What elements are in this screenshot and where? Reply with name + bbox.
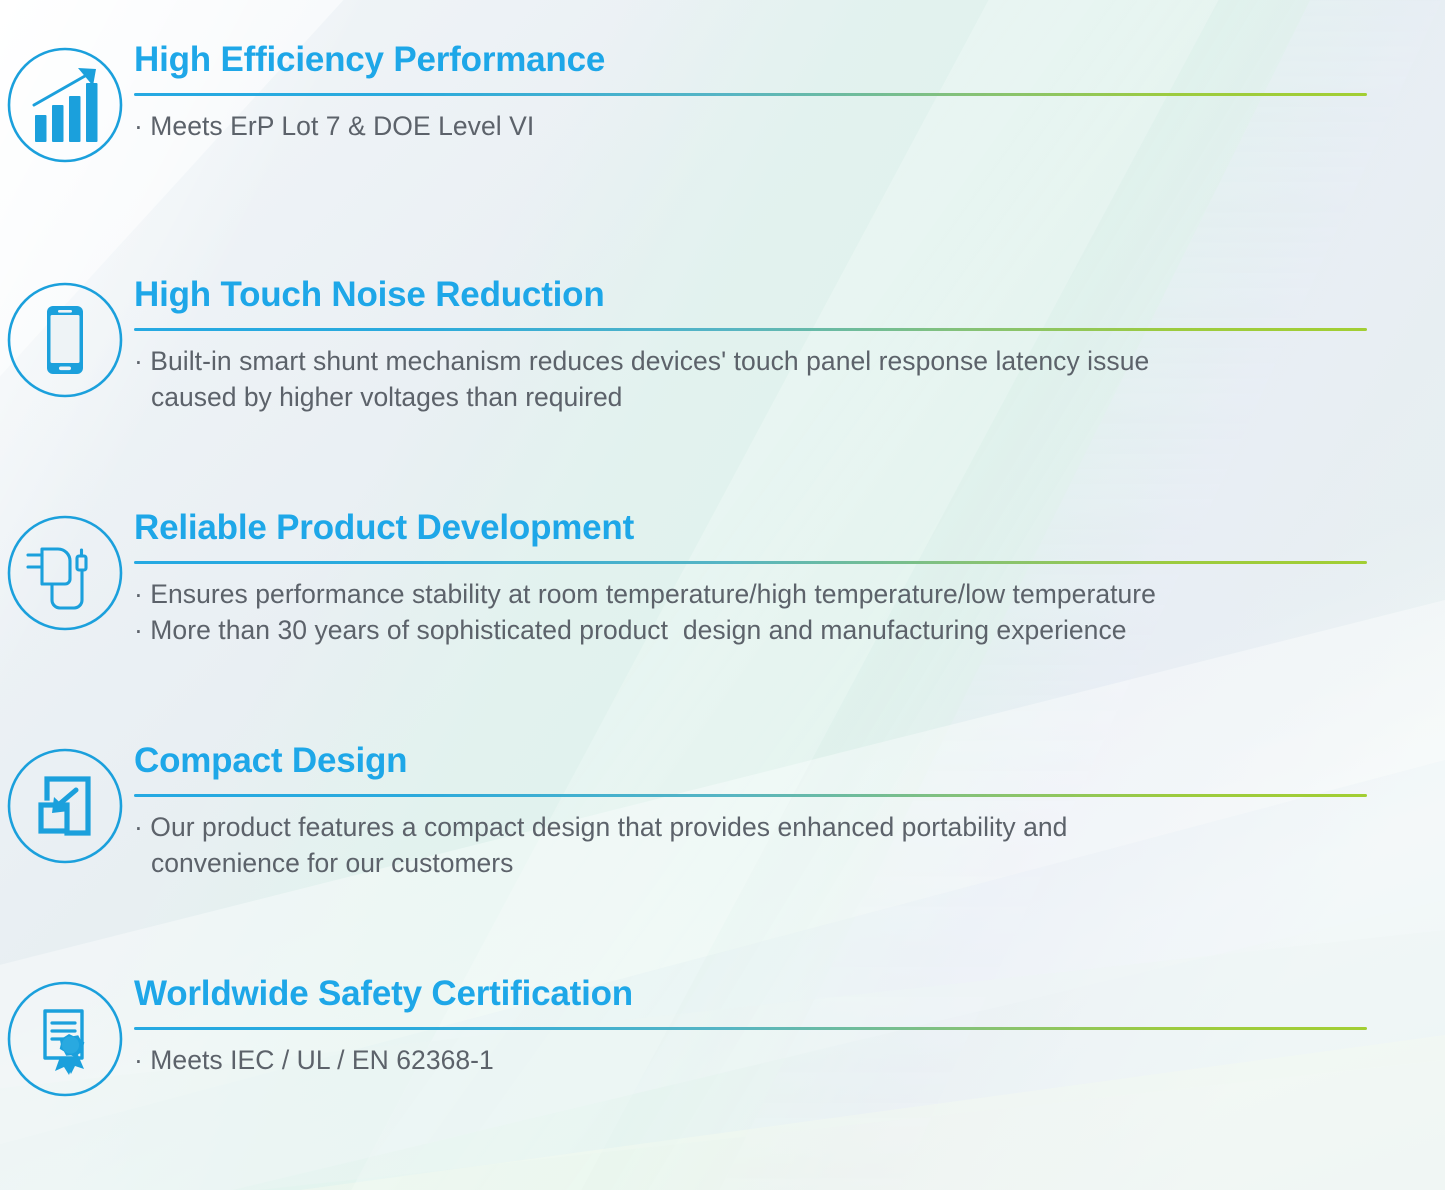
certificate-award-icon	[4, 978, 126, 1100]
feature-icon-wrap	[0, 976, 130, 1100]
bullet-text-continuation: caused by higher voltages than required	[134, 379, 1367, 415]
feature-text-block: Reliable Product Development · Ensures p…	[130, 510, 1445, 648]
bullet-marker: ·	[134, 579, 143, 609]
feature-item-compact-design: Compact Design · Our product features a …	[0, 743, 1445, 881]
compact-resize-icon	[4, 745, 126, 867]
power-adapter-icon	[4, 512, 126, 634]
feature-icon-wrap	[0, 277, 130, 401]
bullet-text: More than 30 years of sophisticated prod…	[150, 615, 1126, 645]
smartphone-icon	[4, 279, 126, 401]
feature-item-reliable-product-development: Reliable Product Development · Ensures p…	[0, 510, 1445, 648]
bullet-text: Our product features a compact design th…	[150, 812, 1067, 842]
bullet-text-continuation: convenience for our customers	[134, 845, 1367, 881]
bullet-marker: ·	[134, 812, 143, 842]
feature-title: High Efficiency Performance	[134, 42, 1367, 79]
feature-icon-wrap	[0, 42, 130, 166]
bar-chart-growth-icon	[4, 44, 126, 166]
feature-divider	[134, 1027, 1367, 1030]
feature-icon-wrap	[0, 510, 130, 634]
bullet-text: Meets ErP Lot 7 & DOE Level VI	[150, 111, 534, 141]
feature-bullet: · Our product features a compact design …	[134, 809, 1367, 845]
features-list: High Efficiency Performance · Meets ErP …	[0, 0, 1445, 1190]
bullet-marker: ·	[134, 346, 143, 376]
feature-item-worldwide-safety-certification: Worldwide Safety Certification · Meets I…	[0, 976, 1445, 1100]
feature-bullet: · Meets IEC / UL / EN 62368-1	[134, 1042, 1367, 1078]
feature-bullet: · More than 30 years of sophisticated pr…	[134, 612, 1367, 648]
feature-title: Compact Design	[134, 743, 1367, 780]
bullet-text: Ensures performance stability at room te…	[150, 579, 1156, 609]
bullet-marker: ·	[134, 615, 143, 645]
bullet-marker: ·	[134, 111, 143, 141]
feature-title: Reliable Product Development	[134, 510, 1367, 547]
bullet-text: Built-in smart shunt mechanism reduces d…	[150, 346, 1149, 376]
feature-divider	[134, 93, 1367, 96]
feature-text-block: High Efficiency Performance · Meets ErP …	[130, 42, 1445, 144]
feature-bullet: · Built-in smart shunt mechanism reduces…	[134, 343, 1367, 379]
feature-bullet: · Ensures performance stability at room …	[134, 576, 1367, 612]
feature-icon-wrap	[0, 743, 130, 867]
feature-item-high-efficiency-performance: High Efficiency Performance · Meets ErP …	[0, 42, 1445, 166]
feature-divider	[134, 794, 1367, 797]
feature-item-high-touch-noise-reduction: High Touch Noise Reduction · Built-in sm…	[0, 277, 1445, 415]
feature-title: Worldwide Safety Certification	[134, 976, 1367, 1013]
feature-text-block: Compact Design · Our product features a …	[130, 743, 1445, 881]
feature-text-block: Worldwide Safety Certification · Meets I…	[130, 976, 1445, 1078]
bullet-marker: ·	[134, 1045, 143, 1075]
bullet-text: Meets IEC / UL / EN 62368-1	[150, 1045, 494, 1075]
feature-bullet: · Meets ErP Lot 7 & DOE Level VI	[134, 108, 1367, 144]
feature-title: High Touch Noise Reduction	[134, 277, 1367, 314]
feature-text-block: High Touch Noise Reduction · Built-in sm…	[130, 277, 1445, 415]
feature-divider	[134, 328, 1367, 331]
feature-divider	[134, 561, 1367, 564]
